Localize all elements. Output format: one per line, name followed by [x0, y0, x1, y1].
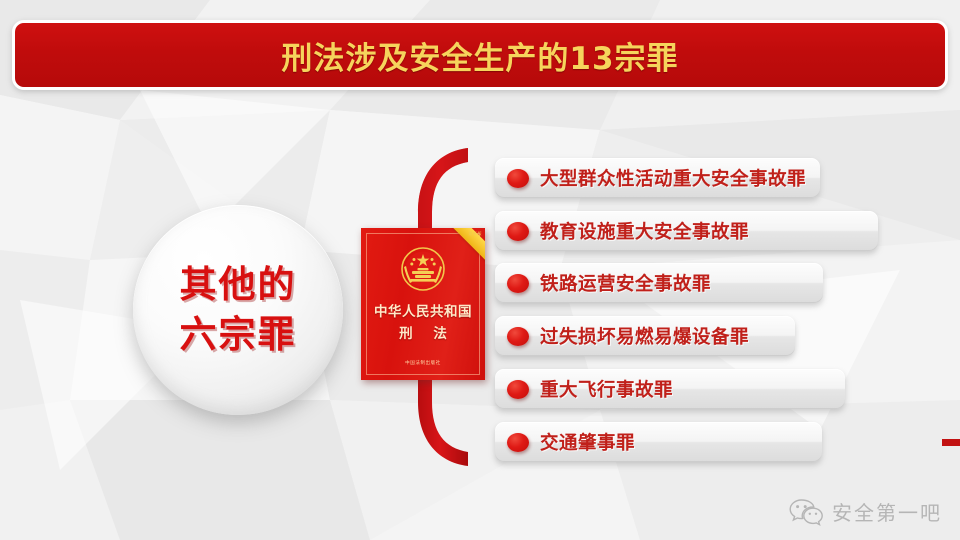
watermark-label: 安全第一吧 — [832, 497, 942, 526]
slide-title-bar: 刑法涉及安全生产的13宗罪 — [12, 20, 948, 90]
crime-label-1: 大型群众性活动重大安全事故罪 — [540, 165, 806, 191]
national-emblem-icon — [400, 246, 446, 292]
criminal-law-book: 最新版 中华人民共和国 — [361, 228, 485, 380]
crime-label-4: 过失损坏易燃易爆设备罪 — [540, 323, 749, 349]
slide-canvas: 刑法涉及安全生产的13宗罪 其他的 六宗罪 最新版 — [0, 0, 960, 540]
crime-item-5[interactable]: 重大飞行事故罪 — [495, 369, 845, 409]
bullet-dot-icon — [507, 433, 529, 452]
crime-item-1[interactable]: 大型群众性活动重大安全事故罪 — [495, 158, 820, 198]
crime-item-4[interactable]: 过失损坏易燃易爆设备罪 — [495, 316, 795, 356]
circle-label-line2: 六宗罪 — [180, 310, 297, 360]
wechat-watermark: 安全第一吧 — [789, 497, 942, 526]
bullet-dot-icon — [507, 169, 529, 188]
bullet-dot-icon — [507, 380, 529, 399]
wechat-icon — [789, 498, 823, 526]
other-crimes-circle: 其他的 六宗罪 — [133, 205, 343, 415]
crime-item-2[interactable]: 教育设施重大安全事故罪 — [495, 211, 878, 251]
circle-body: 其他的 六宗罪 — [133, 205, 343, 415]
crime-item-3[interactable]: 铁路运营安全事故罪 — [495, 263, 823, 303]
bullet-dot-icon — [507, 274, 529, 293]
slide-title: 刑法涉及安全生产的13宗罪 — [281, 33, 678, 78]
crime-label-2: 教育设施重大安全事故罪 — [540, 218, 749, 244]
crime-label-3: 铁路运营安全事故罪 — [540, 270, 711, 296]
corner-red-accent — [942, 439, 960, 446]
bullet-dot-icon — [507, 327, 529, 346]
crime-label-5: 重大飞行事故罪 — [540, 376, 673, 402]
book-publisher: 中国法制出版社 — [361, 360, 485, 366]
circle-label-line1: 其他的 — [180, 260, 297, 310]
book-title-line1: 中华人民共和国 — [361, 300, 485, 320]
book-corner-label: 最新版 — [469, 231, 483, 237]
crime-label-6: 交通肇事罪 — [540, 429, 635, 455]
bullet-dot-icon — [507, 222, 529, 241]
book-title-line2: 刑 法 — [361, 322, 485, 342]
crime-item-6[interactable]: 交通肇事罪 — [495, 422, 822, 462]
